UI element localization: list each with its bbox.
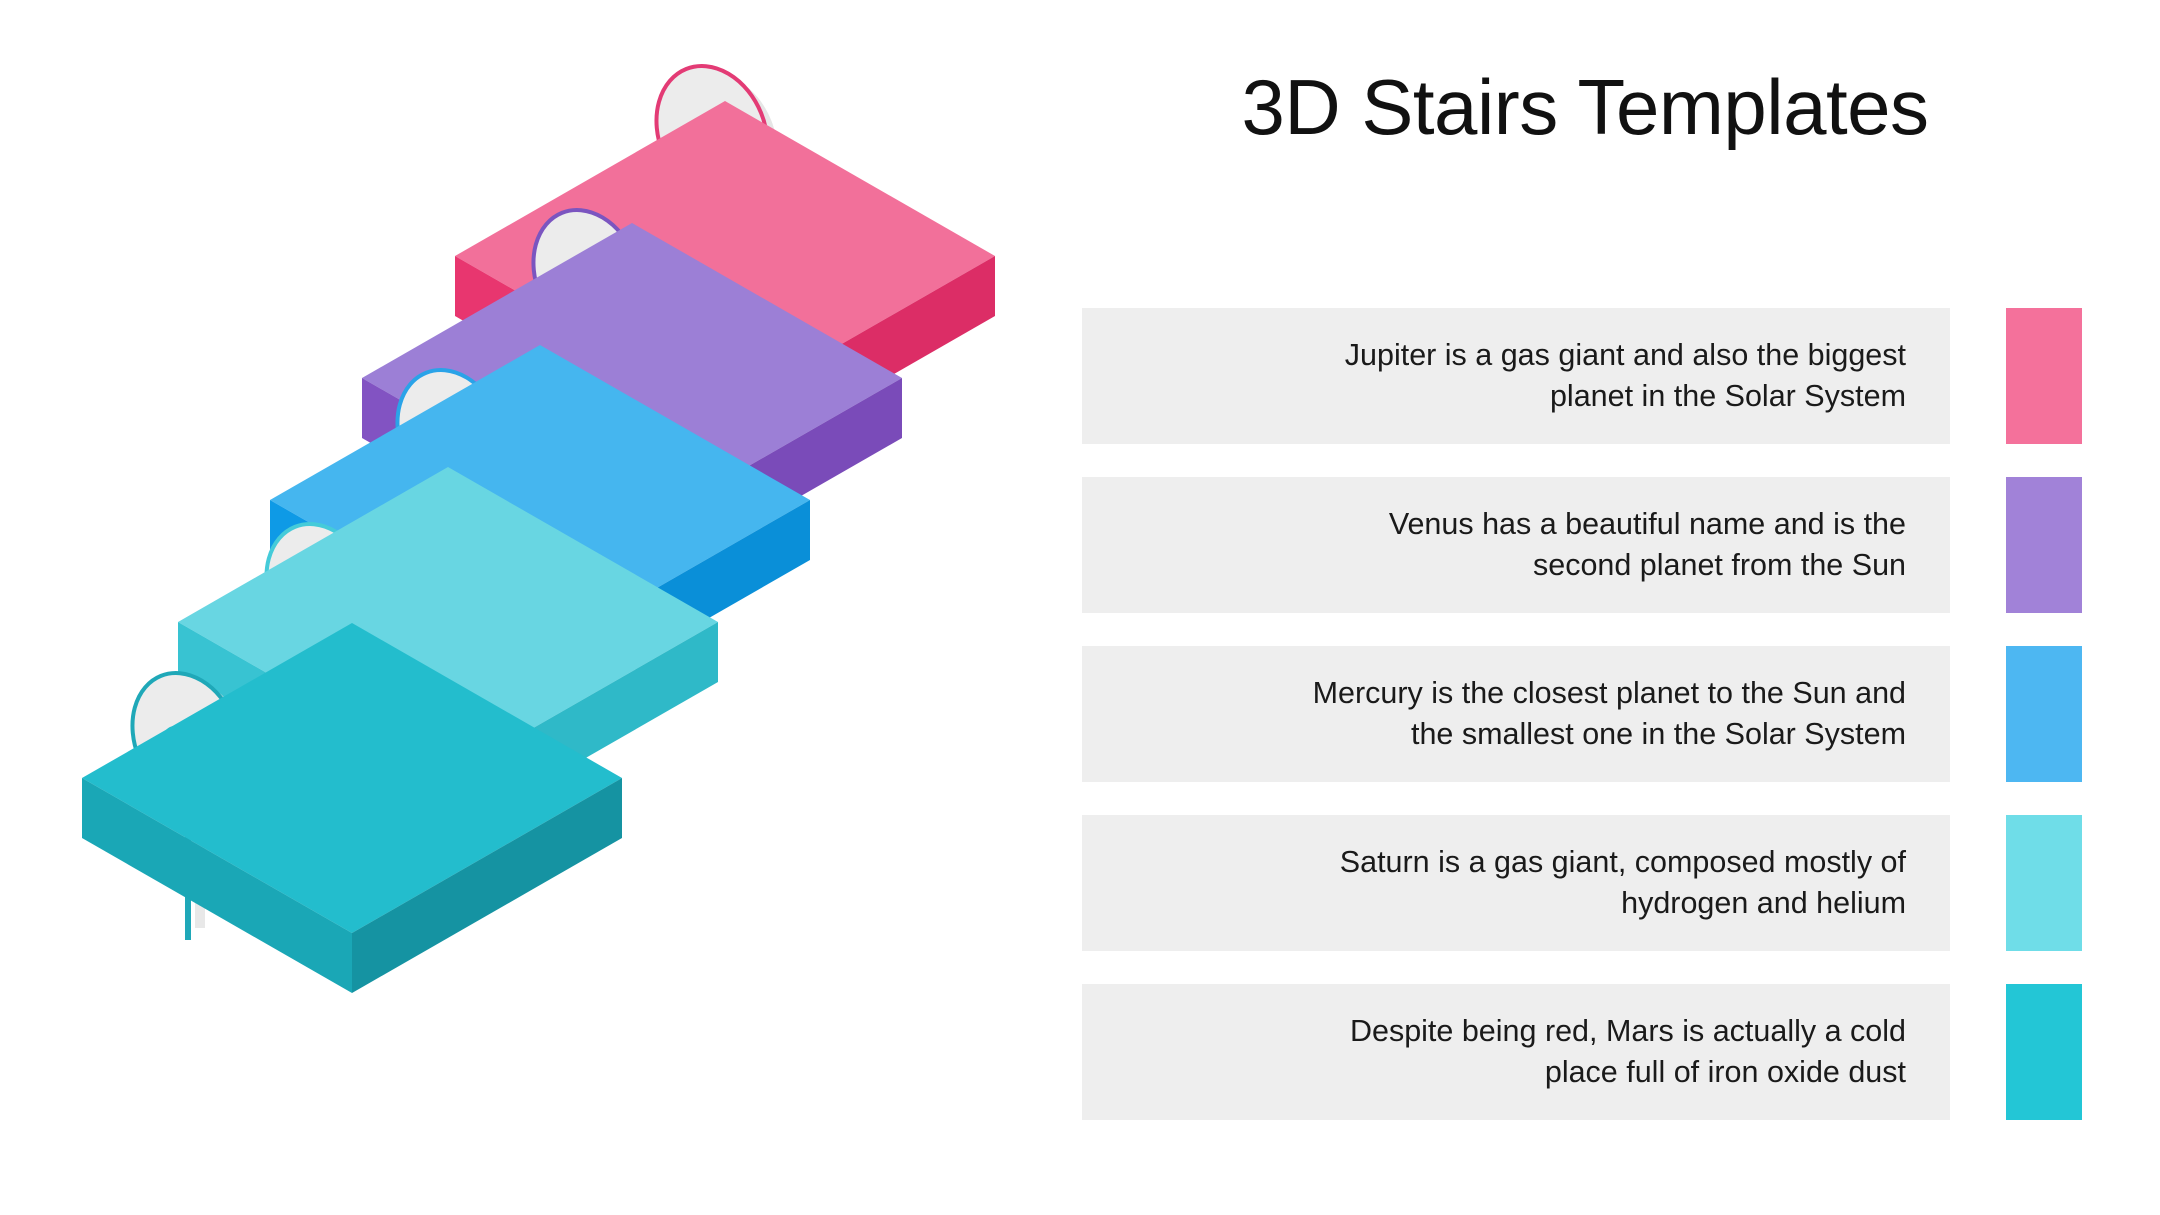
description-box-3: Mercury is the closest planet to the Sun… [1082, 646, 1950, 782]
page-title: 3D Stairs Templates [1080, 62, 2090, 153]
description-text-1: Jupiter is a gas giant and also the bigg… [1345, 335, 1906, 417]
stairs-illustration: 05 04 [0, 0, 1010, 1215]
color-swatch-4 [2006, 815, 2082, 951]
color-swatch-3 [2006, 646, 2082, 782]
list-item: Mercury is the closest planet to the Sun… [1082, 646, 2082, 782]
description-text-4: Saturn is a gas giant, composed mostly o… [1340, 842, 1906, 924]
list-item: Jupiter is a gas giant and also the bigg… [1082, 308, 2082, 444]
description-box-2: Venus has a beautiful name and is the se… [1082, 477, 1950, 613]
color-swatch-5 [2006, 984, 2082, 1120]
slide-canvas: 05 04 [0, 0, 2160, 1215]
description-list: Jupiter is a gas giant and also the bigg… [1082, 308, 2082, 1153]
description-text-3: Mercury is the closest planet to the Sun… [1313, 673, 1906, 755]
description-text-2: Venus has a beautiful name and is the se… [1389, 504, 1906, 586]
color-swatch-1 [2006, 308, 2082, 444]
color-swatch-2 [2006, 477, 2082, 613]
description-box-1: Jupiter is a gas giant and also the bigg… [1082, 308, 1950, 444]
list-item: Venus has a beautiful name and is the se… [1082, 477, 2082, 613]
description-box-5: Despite being red, Mars is actually a co… [1082, 984, 1950, 1120]
description-text-5: Despite being red, Mars is actually a co… [1350, 1011, 1906, 1093]
list-item: Despite being red, Mars is actually a co… [1082, 984, 2082, 1120]
description-box-4: Saturn is a gas giant, composed mostly o… [1082, 815, 1950, 951]
list-item: Saturn is a gas giant, composed mostly o… [1082, 815, 2082, 951]
